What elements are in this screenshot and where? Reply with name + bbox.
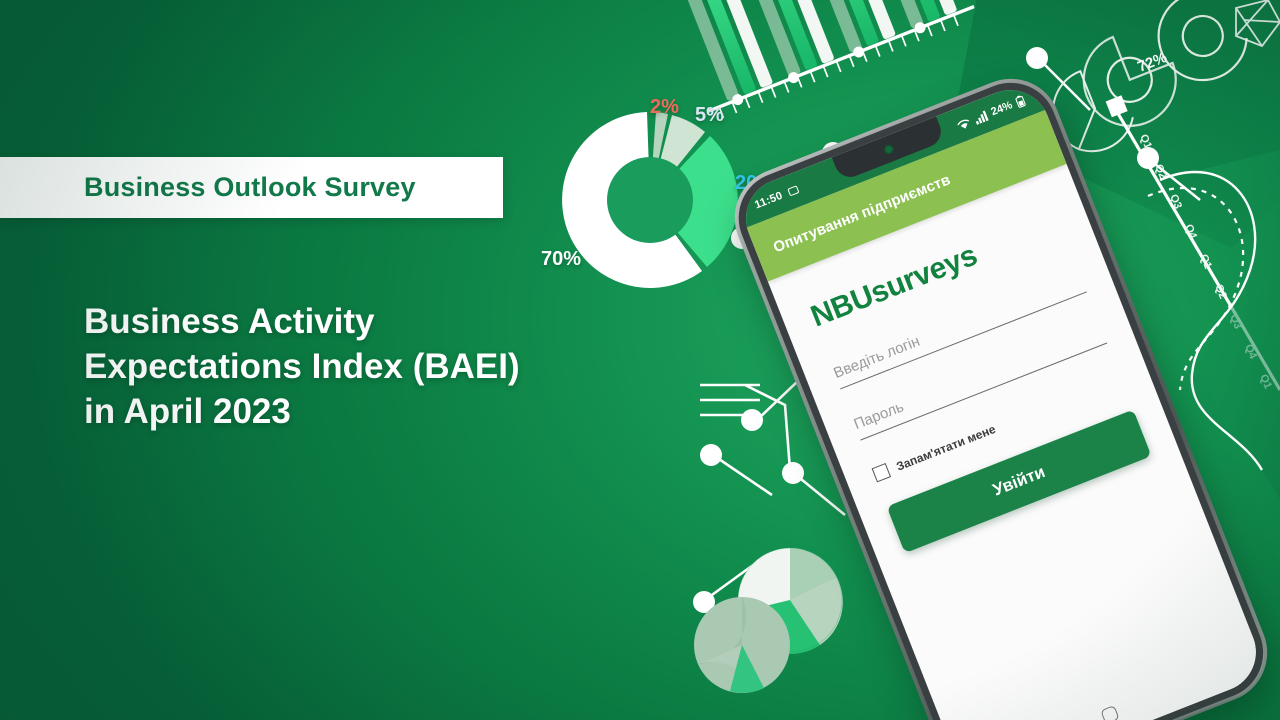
poster-canvas: 72% Q1 Q2 Q3 Q4 Q1 Q2 Q3 Q4 Q1: [0, 0, 1280, 720]
vignette-overlay: [0, 0, 1280, 720]
